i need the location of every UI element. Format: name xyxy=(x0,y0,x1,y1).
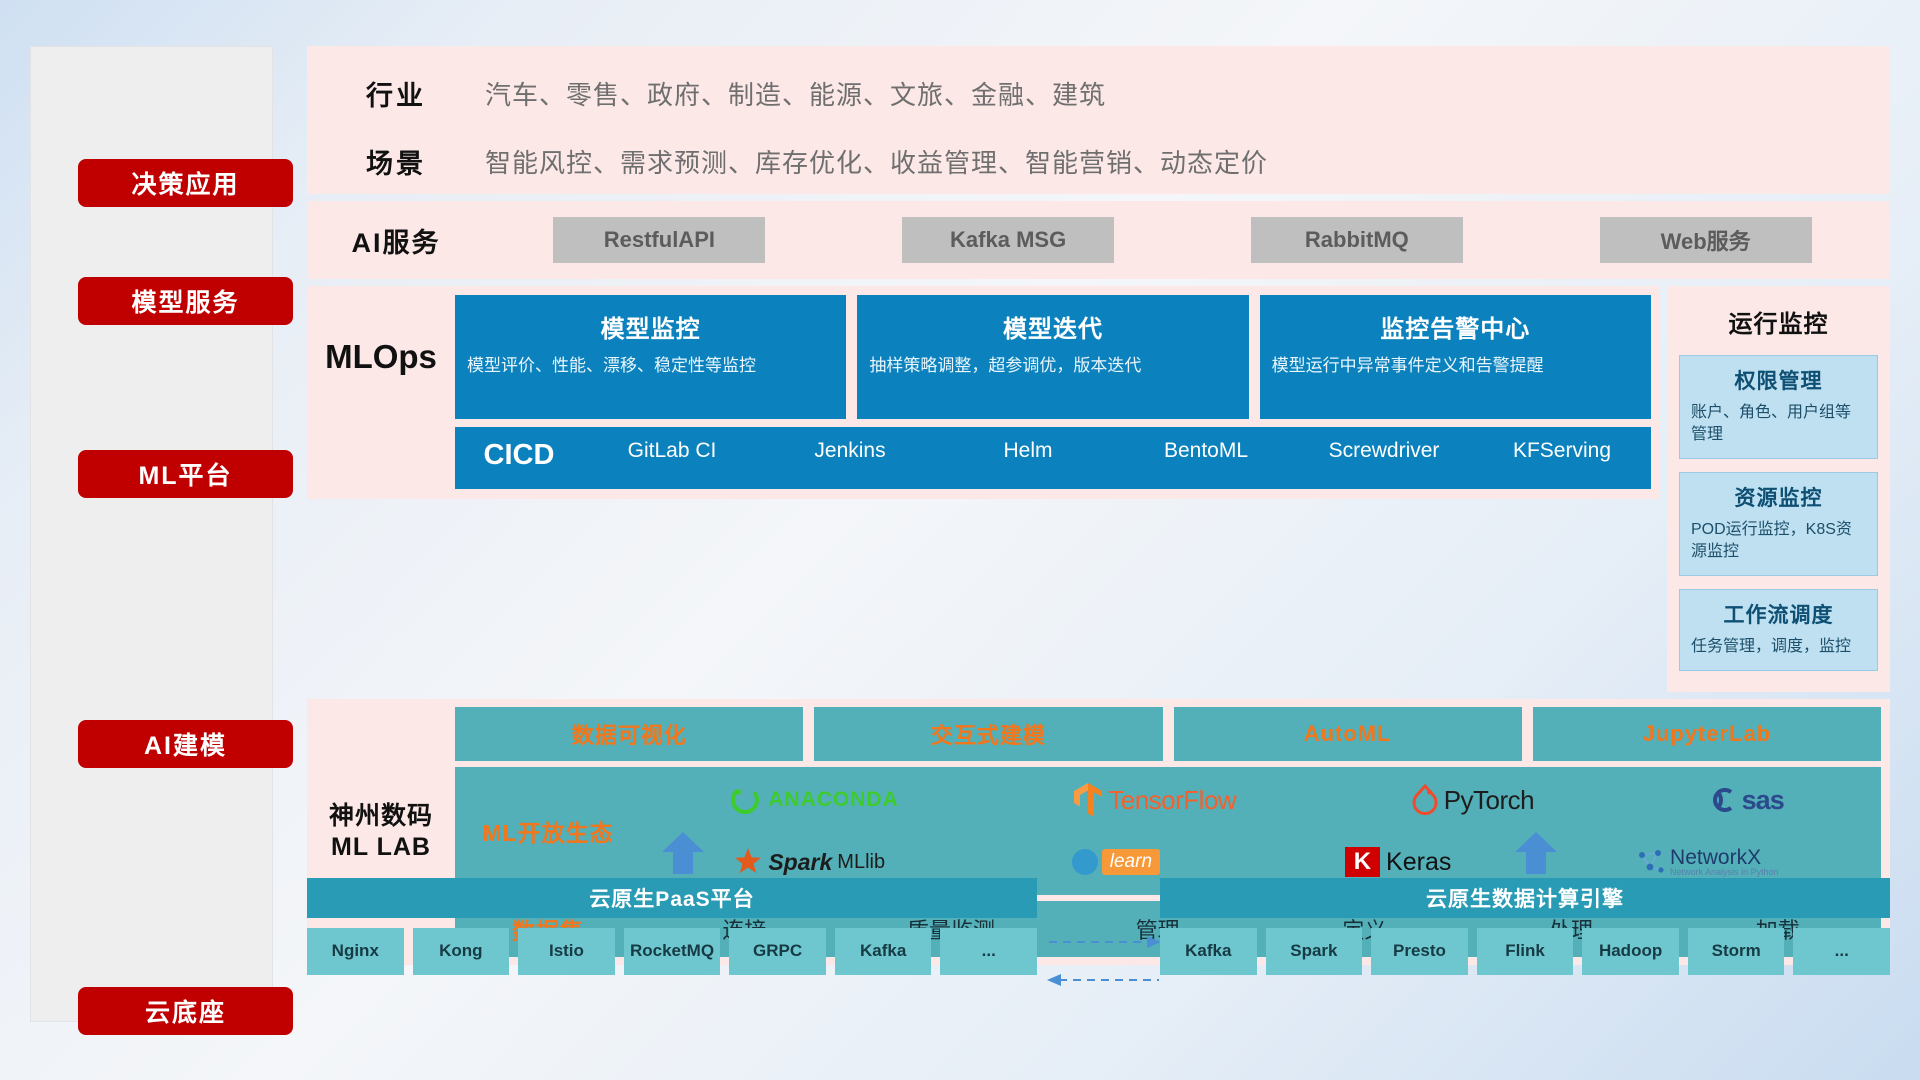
runtime-monitoring-panel: 运行监控 权限管理 账户、角色、用户组等管理 资源监控 POD运行监控，K8S资… xyxy=(1667,286,1890,692)
scenario-value: 智能风控、需求预测、库存优化、收益管理、智能营销、动态定价 xyxy=(485,143,1268,180)
networkx-logo: NetworkX Network Analysis in Python xyxy=(1636,847,1779,877)
cicd-tool-gitlab-ci[interactable]: GitLab CI xyxy=(583,439,761,463)
tab-data-visualization[interactable]: 数据可视化 xyxy=(455,707,803,761)
keras-logo: K Keras xyxy=(1345,847,1452,877)
networkx-tagline: Network Analysis in Python xyxy=(1670,868,1779,877)
paas-column: 云原生PaaS平台 Nginx Kong Istio RocketMQ GRPC… xyxy=(307,878,1037,975)
card-title: 模型监控 xyxy=(467,309,834,344)
card-desc: 模型运行中异常事件定义和告警提醒 xyxy=(1272,355,1639,378)
ecosystem-logos: ANACONDA TensorFlow xyxy=(641,771,1871,891)
pytorch-wordmark: PyTorch xyxy=(1444,785,1534,816)
industry-value: 汽车、零售、政府、制造、能源、文旅、金融、建筑 xyxy=(485,75,1106,112)
cicd-tool-bentoml[interactable]: BentoML xyxy=(1117,439,1295,463)
layer-tag-model-service[interactable]: 模型服务 xyxy=(78,277,293,325)
sas-logo: sas xyxy=(1709,785,1784,816)
card-body: POD运行监控，K8S资源监控 xyxy=(1691,519,1866,563)
layer-tag-decision-apps[interactable]: 决策应用 xyxy=(78,159,293,207)
data-engine-chip-list: Kafka Spark Presto Flink Hadoop Storm ..… xyxy=(1160,928,1890,975)
sas-wordmark: sas xyxy=(1742,785,1784,816)
chip-istio[interactable]: Istio xyxy=(518,928,615,975)
cicd-tool-helm[interactable]: Helm xyxy=(939,439,1117,463)
mlops-card-alert-center[interactable]: 监控告警中心 模型运行中异常事件定义和告警提醒 xyxy=(1260,295,1651,419)
ml-lab-label-line1: 神州数码 xyxy=(329,801,433,832)
chip-kafka[interactable]: Kafka xyxy=(835,928,932,975)
ai-service-rabbitmq[interactable]: RabbitMQ xyxy=(1251,217,1463,263)
sas-icon xyxy=(1709,785,1739,815)
card-body: 任务管理，调度，监控 xyxy=(1691,636,1866,658)
layer-sidebar: 决策应用 模型服务 ML平台 AI建模 云底座 xyxy=(30,46,273,1022)
card-header: 权限管理 xyxy=(1691,365,1866,395)
chip-storm[interactable]: Storm xyxy=(1688,928,1785,975)
anaconda-logo: ANACONDA xyxy=(728,783,899,817)
card-header: 资源监控 xyxy=(1691,482,1866,512)
cicd-tool-screwdriver[interactable]: Screwdriver xyxy=(1295,439,1473,463)
ecosystem-logo-row-1: ANACONDA TensorFlow xyxy=(641,771,1871,829)
ai-service-cell: RabbitMQ xyxy=(1183,217,1532,263)
chip-more-right[interactable]: ... xyxy=(1793,928,1890,975)
scenario-label: 场景 xyxy=(307,142,485,181)
scenario-row: 场景 智能风控、需求预测、库存优化、收益管理、智能营销、动态定价 xyxy=(307,136,1890,186)
ml-lab-tabs: 数据可视化 交互式建模 AutoML JupyterLab xyxy=(455,707,1881,761)
cicd-tool-kfserving[interactable]: KFServing xyxy=(1473,439,1651,463)
cloud-columns: 云原生PaaS平台 Nginx Kong Istio RocketMQ GRPC… xyxy=(307,878,1890,975)
chip-presto[interactable]: Presto xyxy=(1371,928,1468,975)
networkx-wordmark: NetworkX xyxy=(1670,847,1779,868)
monitoring-card-workflow[interactable]: 工作流调度 任务管理，调度，监控 xyxy=(1679,589,1878,671)
main-panel: 行业 汽车、零售、政府、制造、能源、文旅、金融、建筑 场景 智能风控、需求预测、… xyxy=(307,46,1890,965)
ai-service-cell: Web服务 xyxy=(1531,217,1880,263)
ai-service-web[interactable]: Web服务 xyxy=(1600,217,1812,263)
spark-mllib-logo: Spark MLlib xyxy=(733,847,885,877)
keras-icon: K xyxy=(1345,847,1380,877)
card-body: 账户、角色、用户组等管理 xyxy=(1691,402,1866,446)
cicd-wrap: CICD GitLab CI Jenkins Helm BentoML Scre… xyxy=(307,427,1660,499)
spark-icon xyxy=(733,847,763,877)
card-title: 监控告警中心 xyxy=(1272,309,1639,344)
ml-lab-label-line2: ML LAB xyxy=(331,832,431,863)
cloud-foundation-layer: 云原生PaaS平台 Nginx Kong Istio RocketMQ GRPC… xyxy=(307,878,1890,975)
tensorflow-logo: TensorFlow xyxy=(1073,782,1236,818)
industry-row: 行业 汽车、零售、政府、制造、能源、文旅、金融、建筑 xyxy=(307,68,1890,118)
monitoring-card-resources[interactable]: 资源监控 POD运行监控，K8S资源监控 xyxy=(1679,472,1878,576)
scikit-icon xyxy=(1070,847,1100,877)
tensorflow-wordmark: TensorFlow xyxy=(1108,785,1236,816)
data-engine-column: 云原生数据计算引擎 Kafka Spark Presto Flink Hadoo… xyxy=(1160,878,1890,975)
applications-band: 行业 汽车、零售、政府、制造、能源、文旅、金融、建筑 场景 智能风控、需求预测、… xyxy=(307,46,1890,194)
anaconda-icon xyxy=(728,783,762,817)
ecosystem-label: ML开放生态 xyxy=(455,814,641,848)
anaconda-wordmark: ANACONDA xyxy=(768,788,899,812)
ai-service-cell: Kafka MSG xyxy=(834,217,1183,263)
networkx-icon xyxy=(1636,847,1666,877)
ai-services-list: RestfulAPI Kafka MSG RabbitMQ Web服务 xyxy=(485,217,1890,263)
chip-kafka-right[interactable]: Kafka xyxy=(1160,928,1257,975)
monitoring-title: 运行监控 xyxy=(1679,304,1878,339)
mlops-card-model-monitoring[interactable]: 模型监控 模型评价、性能、漂移、稳定性等监控 xyxy=(455,295,846,419)
scikit-wordmark: learn xyxy=(1102,849,1160,875)
mllib-wordmark: MLlib xyxy=(837,851,885,874)
card-title: 模型迭代 xyxy=(869,309,1236,344)
chip-rocketmq[interactable]: RocketMQ xyxy=(624,928,721,975)
chip-kong[interactable]: Kong xyxy=(413,928,510,975)
card-desc: 抽样策略调整，超参调优，版本迭代 xyxy=(869,355,1236,378)
chip-flink[interactable]: Flink xyxy=(1477,928,1574,975)
tensorflow-icon xyxy=(1073,782,1103,818)
keras-wordmark: Keras xyxy=(1386,848,1451,877)
paas-title: 云原生PaaS平台 xyxy=(307,878,1037,918)
spark-wordmark: Spark xyxy=(768,849,832,876)
pytorch-icon xyxy=(1411,784,1439,816)
mlops-card-list: 模型监控 模型评价、性能、漂移、稳定性等监控 模型迭代 抽样策略调整，超参调优，… xyxy=(455,295,1660,419)
tab-jupyterlab[interactable]: JupyterLab xyxy=(1533,707,1881,761)
ai-service-restful-api[interactable]: RestfulAPI xyxy=(553,217,765,263)
ai-service-cell: RestfulAPI xyxy=(485,217,834,263)
layer-tag-cloud-foundation[interactable]: 云底座 xyxy=(78,987,293,1035)
ai-services-band: AI服务 RestfulAPI Kafka MSG RabbitMQ Web服务 xyxy=(307,201,1890,279)
architecture-diagram: 决策应用 模型服务 ML平台 AI建模 云底座 行业 汽车、零售、政府、制造、能… xyxy=(0,0,1920,1080)
mlops-cards-row: MLOps 模型监控 模型评价、性能、漂移、稳定性等监控 模型迭代 抽样策略调整… xyxy=(307,286,1660,427)
ai-service-kafka-msg[interactable]: Kafka MSG xyxy=(902,217,1114,263)
ai-services-label: AI服务 xyxy=(307,221,485,260)
card-header: 工作流调度 xyxy=(1691,599,1866,629)
chip-spark[interactable]: Spark xyxy=(1266,928,1363,975)
monitoring-card-permissions[interactable]: 权限管理 账户、角色、用户组等管理 xyxy=(1679,355,1878,459)
tab-automl[interactable]: AutoML xyxy=(1174,707,1522,761)
chip-nginx[interactable]: Nginx xyxy=(307,928,404,975)
layer-tag-ai-modeling[interactable]: AI建模 xyxy=(78,720,293,768)
upward-arrow-left xyxy=(662,832,704,874)
cicd-tool-jenkins[interactable]: Jenkins xyxy=(761,439,939,463)
mlops-label: MLOps xyxy=(307,295,455,419)
pytorch-logo: PyTorch xyxy=(1411,784,1534,816)
mlops-section: MLOps 模型监控 模型评价、性能、漂移、稳定性等监控 模型迭代 抽样策略调整… xyxy=(307,286,1660,692)
scikit-learn-logo: learn xyxy=(1070,847,1160,877)
mlops-card-model-iteration[interactable]: 模型迭代 抽样策略调整，超参调优，版本迭代 xyxy=(857,295,1248,419)
industry-label: 行业 xyxy=(307,74,485,113)
chip-grpc[interactable]: GRPC xyxy=(729,928,826,975)
ml-platform-band: MLOps 模型监控 模型评价、性能、漂移、稳定性等监控 模型迭代 抽样策略调整… xyxy=(307,286,1890,692)
chip-more-left[interactable]: ... xyxy=(940,928,1037,975)
layer-tag-ml-platform[interactable]: ML平台 xyxy=(78,450,293,498)
chip-hadoop[interactable]: Hadoop xyxy=(1582,928,1679,975)
tab-interactive-modeling[interactable]: 交互式建模 xyxy=(814,707,1162,761)
cicd-row: CICD GitLab CI Jenkins Helm BentoML Scre… xyxy=(455,427,1651,489)
data-engine-title: 云原生数据计算引擎 xyxy=(1160,878,1890,918)
upward-arrow-right xyxy=(1515,832,1557,874)
card-desc: 模型评价、性能、漂移、稳定性等监控 xyxy=(467,355,834,378)
cicd-label: CICD xyxy=(455,439,583,472)
cicd-tool-list: GitLab CI Jenkins Helm BentoML Screwdriv… xyxy=(583,439,1651,463)
paas-chip-list: Nginx Kong Istio RocketMQ GRPC Kafka ... xyxy=(307,928,1037,975)
